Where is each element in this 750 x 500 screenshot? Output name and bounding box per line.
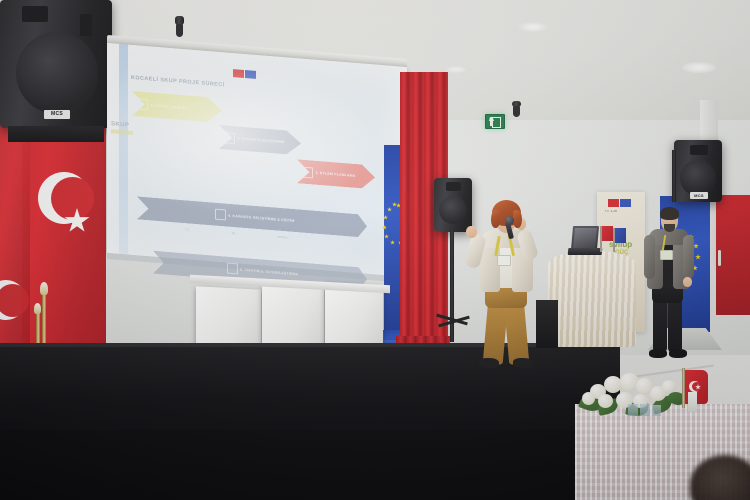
glass-vase — [640, 404, 650, 416]
shoe-left — [649, 349, 667, 358]
recessed-downlight — [518, 22, 548, 32]
desk-flag-turkey — [601, 226, 613, 241]
flag-pole-finial — [40, 282, 48, 295]
hand-right — [683, 277, 692, 287]
arm-left — [644, 235, 655, 279]
name-badge — [660, 250, 673, 260]
ceiling-spotlight — [512, 101, 521, 117]
ceiling-spotlight — [175, 16, 184, 30]
emergency-exit-sign — [485, 114, 505, 129]
crescent-shape — [38, 172, 90, 224]
speaker-woofer — [16, 32, 98, 114]
microphone-head — [505, 216, 514, 225]
eu-flag-icon — [620, 199, 631, 207]
white-rose — [662, 380, 676, 393]
speaker-horn — [80, 14, 92, 36]
beard — [664, 224, 675, 232]
desk-flag-pole — [613, 228, 615, 252]
glass-vase — [628, 404, 638, 416]
stage-front-face — [0, 430, 600, 500]
banner-subtitle: T.C. & AB — [605, 210, 617, 213]
white-rose — [598, 394, 613, 408]
white-rose — [604, 376, 622, 393]
person-presenter — [466, 196, 554, 376]
laptop-base — [568, 248, 603, 255]
banner-flag-logo — [608, 199, 631, 207]
door-handle — [718, 250, 721, 266]
shoe-left — [479, 358, 499, 368]
small-flag-pole — [682, 368, 685, 408]
pa-speaker-left: MCS — [0, 0, 112, 128]
round-table-ivory — [548, 251, 636, 347]
speaker-brand-badge: MCS — [44, 110, 70, 119]
presentation-icon — [227, 263, 238, 275]
hair — [660, 207, 679, 220]
hair-side-left — [491, 210, 500, 228]
person-attendee — [639, 203, 711, 363]
name-badge — [497, 255, 511, 266]
speaker-horn — [22, 6, 48, 22]
arm-right — [683, 235, 694, 279]
shoe-right — [669, 349, 687, 358]
recessed-downlight — [682, 62, 716, 73]
desk-flag-eu — [614, 228, 626, 243]
pa-speaker-left-bracket — [8, 126, 104, 142]
turkey-flag-icon — [608, 199, 619, 207]
speaker-stand-pole — [672, 150, 676, 202]
speaker-horn — [690, 145, 708, 155]
hand-left — [466, 226, 477, 238]
red-door-panel — [716, 195, 750, 315]
speaker-tripod-pole — [450, 230, 454, 342]
screen-glare — [107, 43, 407, 277]
flag-pole-finial — [34, 303, 41, 314]
speaker-brand-badge: MCS — [690, 192, 708, 199]
speaker-woofer — [439, 196, 467, 224]
hair-side-right — [513, 210, 522, 228]
speaker-horn — [446, 182, 461, 191]
conference-presentation-photo: MCS KOCAELİ SKUP PROJE SÜRECİ 1. İHTİYAÇ… — [0, 0, 750, 500]
glass-vase — [652, 405, 661, 416]
desk-flag-pole — [600, 226, 602, 252]
speaker-woofer — [680, 160, 716, 196]
candle-white — [688, 392, 697, 412]
shoe-right — [513, 358, 533, 368]
recessed-downlight — [446, 66, 466, 73]
laptop-screen — [573, 228, 597, 248]
pa-speaker-right: MCS — [674, 140, 722, 202]
white-rose — [582, 392, 595, 405]
projection-screen: KOCAELİ SKUP PROJE SÜRECİ 1. İHTİYAÇ ANA… — [107, 43, 407, 292]
